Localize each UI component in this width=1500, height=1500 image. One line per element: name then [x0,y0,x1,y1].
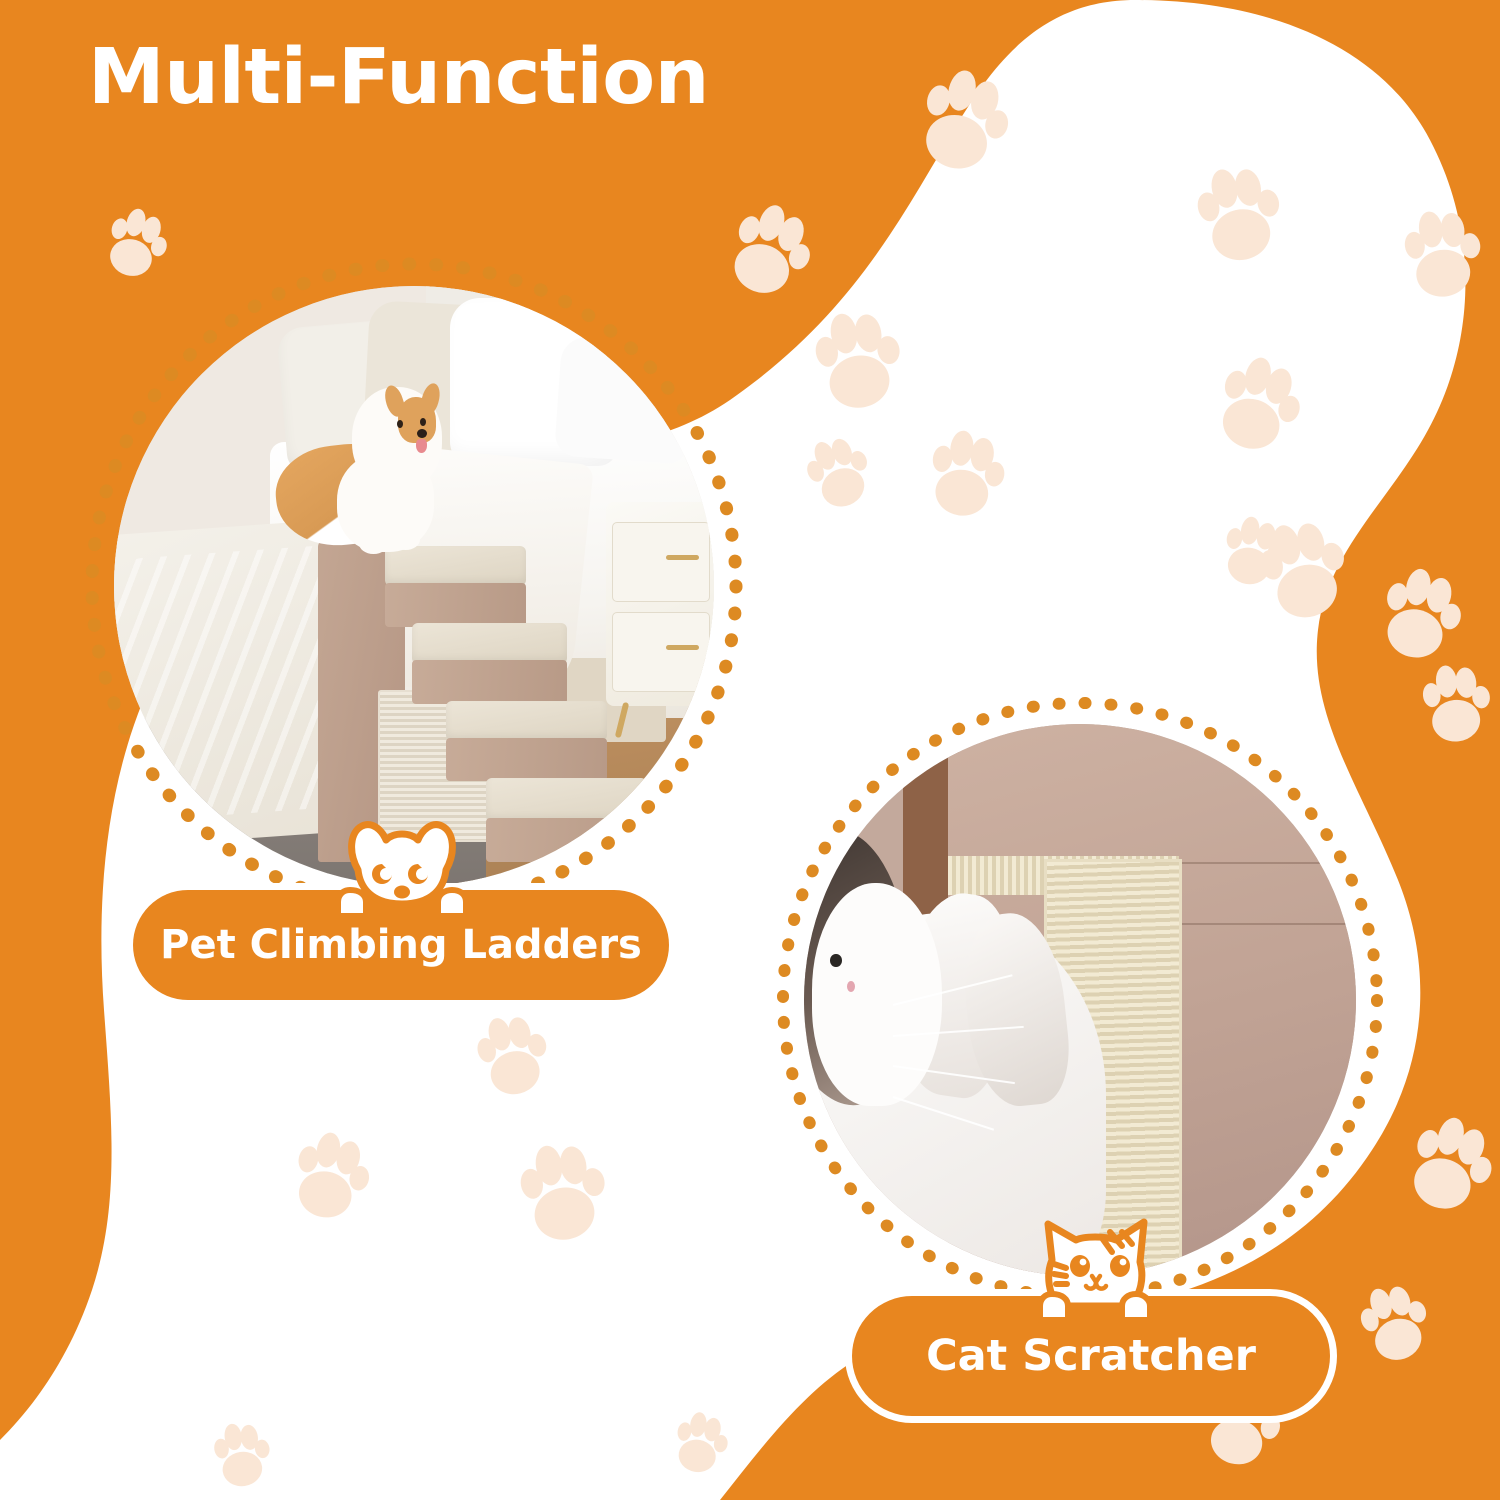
page-title: Multi-Function [88,38,709,119]
badge-label-ladders: Pet Climbing Ladders [160,922,642,968]
cat-peek-icon [1032,1212,1160,1324]
photo-cat-scratcher [804,724,1356,1276]
infographic-canvas: Multi-Function [0,0,1500,1500]
dog-peek-icon [332,812,472,920]
photo-pet-ladder [114,286,714,886]
badge-label-scratcher: Cat Scratcher [926,1331,1256,1381]
